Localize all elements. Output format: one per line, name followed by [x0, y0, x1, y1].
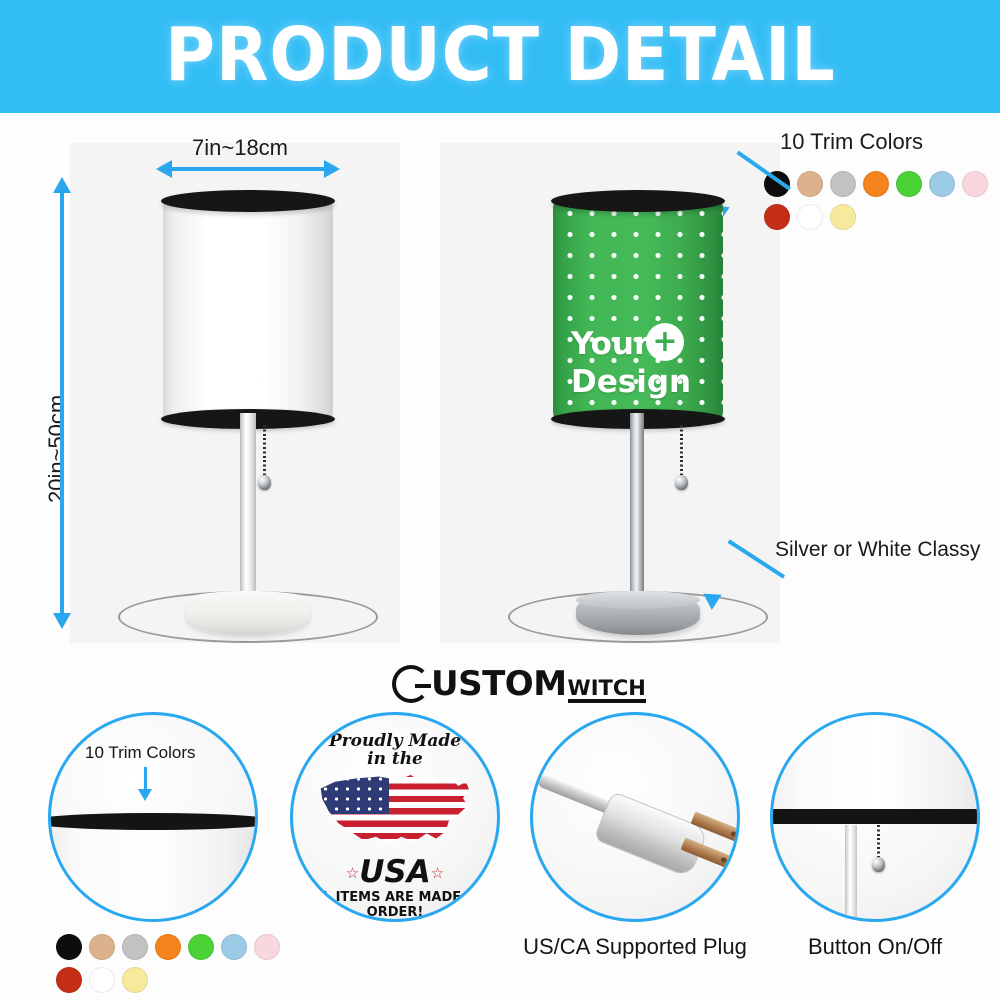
- usa-big-text: ☆USA☆: [293, 857, 497, 888]
- lamp-silver-chain-bead[interactable]: [675, 475, 688, 490]
- lamp-silver-base: [576, 591, 700, 635]
- trim-swatch-green[interactable]: [188, 934, 214, 960]
- brand-logo: USTOM WITCH: [392, 664, 646, 704]
- plug-graphic: [533, 715, 740, 922]
- add-design-plus-icon[interactable]: +: [646, 323, 684, 361]
- feature-usa-circle: Proudly Made in the ☆USA☆ ALL ITEMS ARE …: [290, 712, 500, 922]
- lamp-silver-base-top: [576, 591, 700, 609]
- trim-swatch-white[interactable]: [797, 204, 823, 230]
- usa-badge: Proudly Made in the ☆USA☆ ALL ITEMS ARE …: [293, 733, 497, 920]
- lamp-silver-pole: [630, 413, 644, 613]
- feature-button-circle: [770, 712, 980, 922]
- trim-swatch-light-blue[interactable]: [221, 934, 247, 960]
- lampshade-green-top-trim: [551, 190, 725, 212]
- trim-colors-swatch-row[interactable]: [764, 171, 1000, 230]
- trim-swatch-light-blue[interactable]: [929, 171, 955, 197]
- trim-swatch-gray[interactable]: [122, 934, 148, 960]
- brand-c-mark-icon: [392, 665, 430, 703]
- width-dimension-label: 7in~18cm: [192, 135, 288, 161]
- feature-trim-colors-inner-label: 10 Trim Colors: [85, 743, 196, 763]
- height-dimension-label: 20in~50cm: [44, 395, 70, 503]
- page-title: PRODUCT DETAIL: [165, 18, 836, 96]
- usa-map-icon: [316, 770, 474, 856]
- lamp-white-pull-chain[interactable]: [263, 425, 266, 479]
- lamp-white-chain-bead[interactable]: [258, 475, 271, 490]
- trim-swatch-green[interactable]: [896, 171, 922, 197]
- lamp-silver-pull-chain[interactable]: [680, 425, 683, 479]
- feature-button-caption: Button On/Off: [750, 934, 1000, 960]
- plug-body: [593, 791, 709, 878]
- lamp-white-base: [186, 591, 310, 635]
- trim-swatch-tan[interactable]: [797, 171, 823, 197]
- trim-swatch-orange[interactable]: [863, 171, 889, 197]
- feature-trim-colors-circle: 10 Trim Colors: [48, 712, 258, 922]
- header-banner: PRODUCT DETAIL: [0, 0, 1000, 113]
- usa-label: USA: [359, 854, 431, 890]
- brand-name-main: USTOM: [431, 664, 567, 704]
- base-finish-callout-label: Silver or White Classy: [775, 538, 980, 562]
- lampshade-white-top-trim: [161, 190, 335, 212]
- main-stage: 10 Trim Colors 7in~18cm 20in~50cm: [0, 113, 1000, 658]
- usa-tagline: ALL ITEMS ARE MADE TO ORDER!: [293, 890, 497, 920]
- product-detail-infographic: PRODUCT DETAIL 10 Trim Colors 7in~18cm 2…: [0, 0, 1000, 1000]
- trim-swatch-black[interactable]: [56, 934, 82, 960]
- trim-colors-callout-label: 10 Trim Colors: [780, 129, 923, 155]
- usa-flag-canton: [317, 771, 389, 815]
- feature-plug-circle: [530, 712, 740, 922]
- feature-button-pole: [845, 825, 857, 919]
- brand-name-sub: WITCH: [568, 679, 646, 703]
- trim-swatch-tan[interactable]: [89, 934, 115, 960]
- feature-button-trim: [770, 809, 980, 824]
- trim-swatch-yellow[interactable]: [122, 967, 148, 993]
- lamp-white-base-top: [186, 591, 310, 609]
- feature-row: 10 Trim Colors Proudly Made in the ☆: [0, 712, 1000, 1000]
- lamp-white-pole: [240, 413, 256, 613]
- trim-swatch-red[interactable]: [56, 967, 82, 993]
- trim-swatch-white[interactable]: [89, 967, 115, 993]
- feature-trim-swatch-row[interactable]: [56, 934, 286, 993]
- trim-swatch-yellow[interactable]: [830, 204, 856, 230]
- trim-swatch-pink[interactable]: [962, 171, 988, 197]
- trim-swatch-orange[interactable]: [155, 934, 181, 960]
- usa-star-right-icon: ☆: [431, 864, 444, 882]
- trim-swatch-gray[interactable]: [830, 171, 856, 197]
- feature-plug-caption: US/CA Supported Plug: [500, 934, 770, 960]
- feature-button-shade: [770, 712, 980, 809]
- feature-trim-ring: [48, 813, 258, 830]
- lampshade-white-body: [163, 199, 333, 421]
- usa-script-line2: in the: [293, 751, 497, 769]
- feature-button-chain-bead[interactable]: [872, 857, 885, 872]
- lampshade-white: [163, 199, 333, 421]
- lampshade-green-body: Your + Design: [553, 199, 723, 421]
- plug-cord: [537, 773, 614, 814]
- usa-star-left-icon: ☆: [346, 864, 359, 882]
- trim-swatch-pink[interactable]: [254, 934, 280, 960]
- lampshade-green: Your + Design: [553, 199, 723, 421]
- feature-trim-shade-body: [48, 821, 258, 922]
- base-finish-arrow: [700, 553, 786, 605]
- shade-design-line1: Your: [571, 327, 649, 361]
- shade-design-line2: Design: [571, 365, 691, 399]
